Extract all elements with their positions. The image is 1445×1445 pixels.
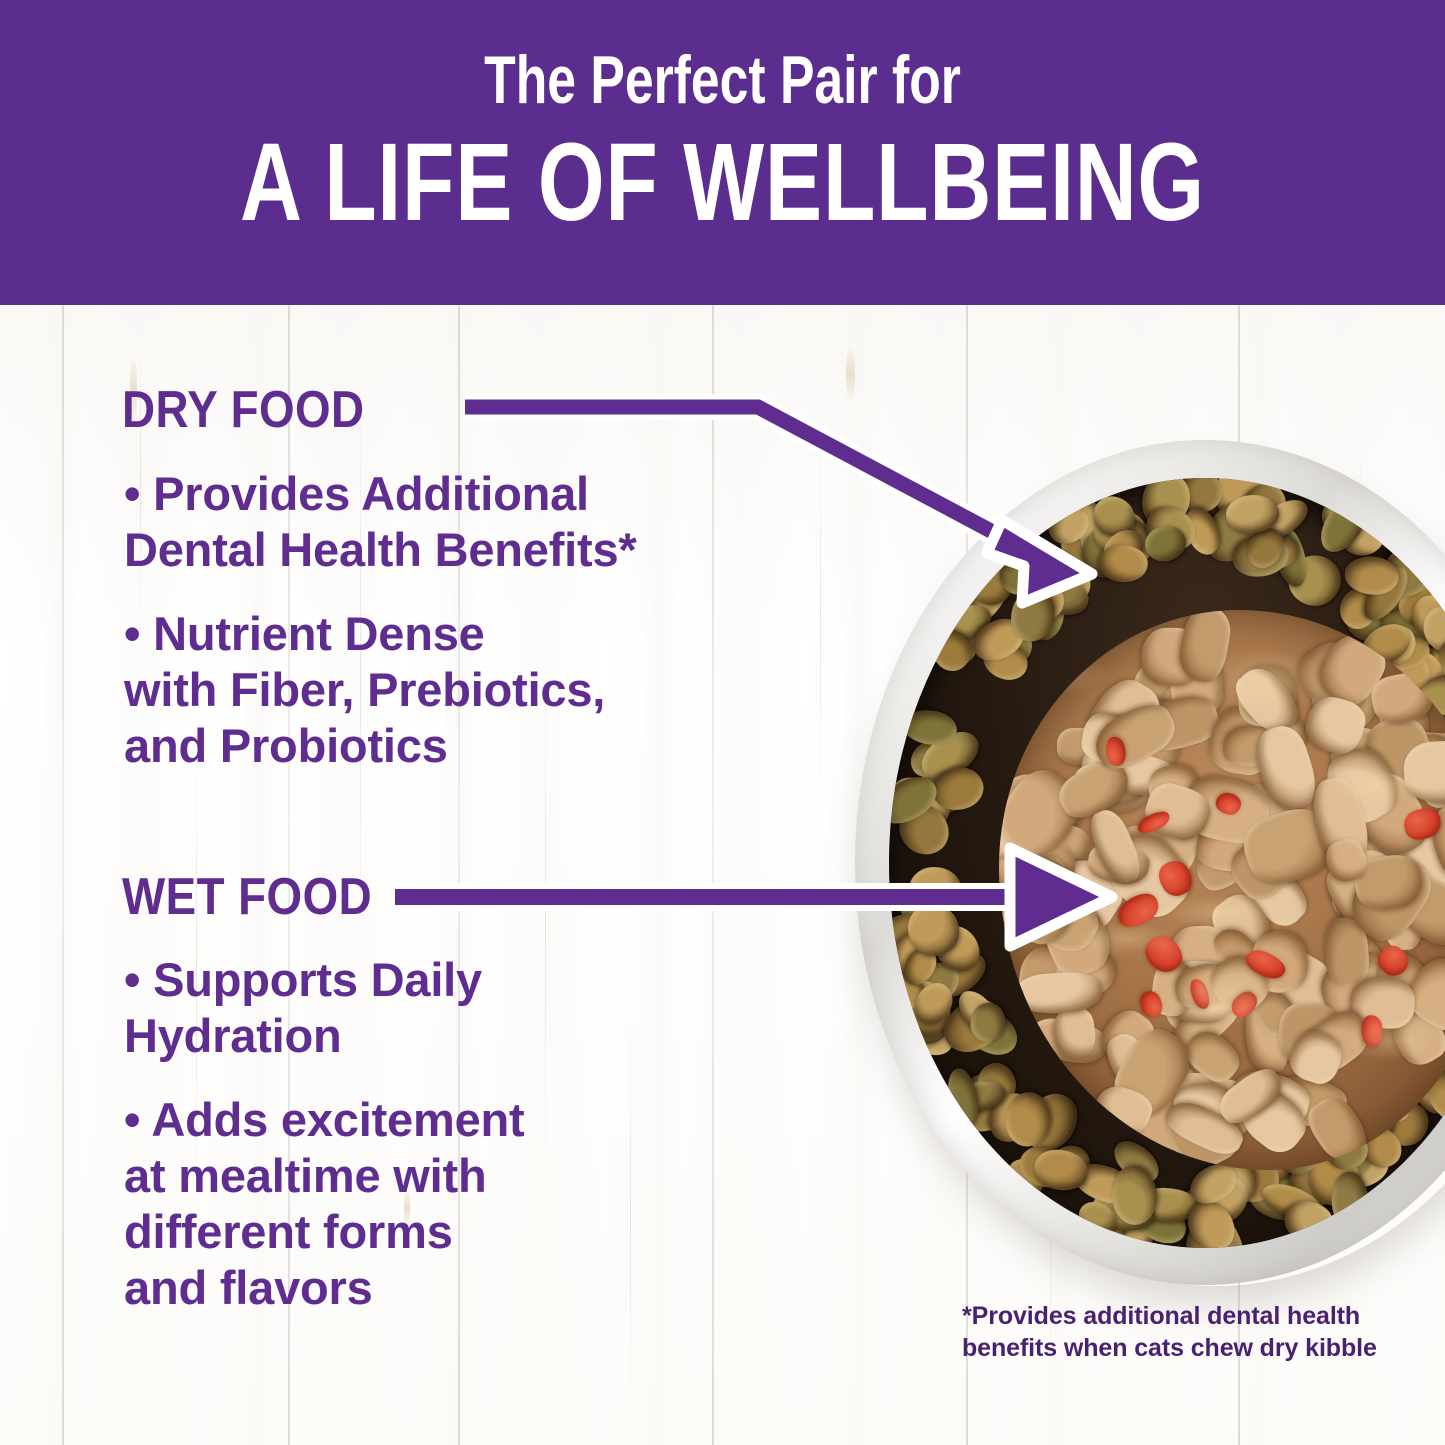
footnote-text: *Provides additional dental health benef…: [962, 1300, 1382, 1364]
wet-food-bullet-2: • Adds excitement at mealtime with diffe…: [124, 1092, 764, 1316]
infographic-page: The Perfect Pair for A LIFE OF WELLBEING…: [0, 0, 1445, 1445]
wet-food-bullet-1: • Supports Daily Hydration: [124, 952, 744, 1064]
